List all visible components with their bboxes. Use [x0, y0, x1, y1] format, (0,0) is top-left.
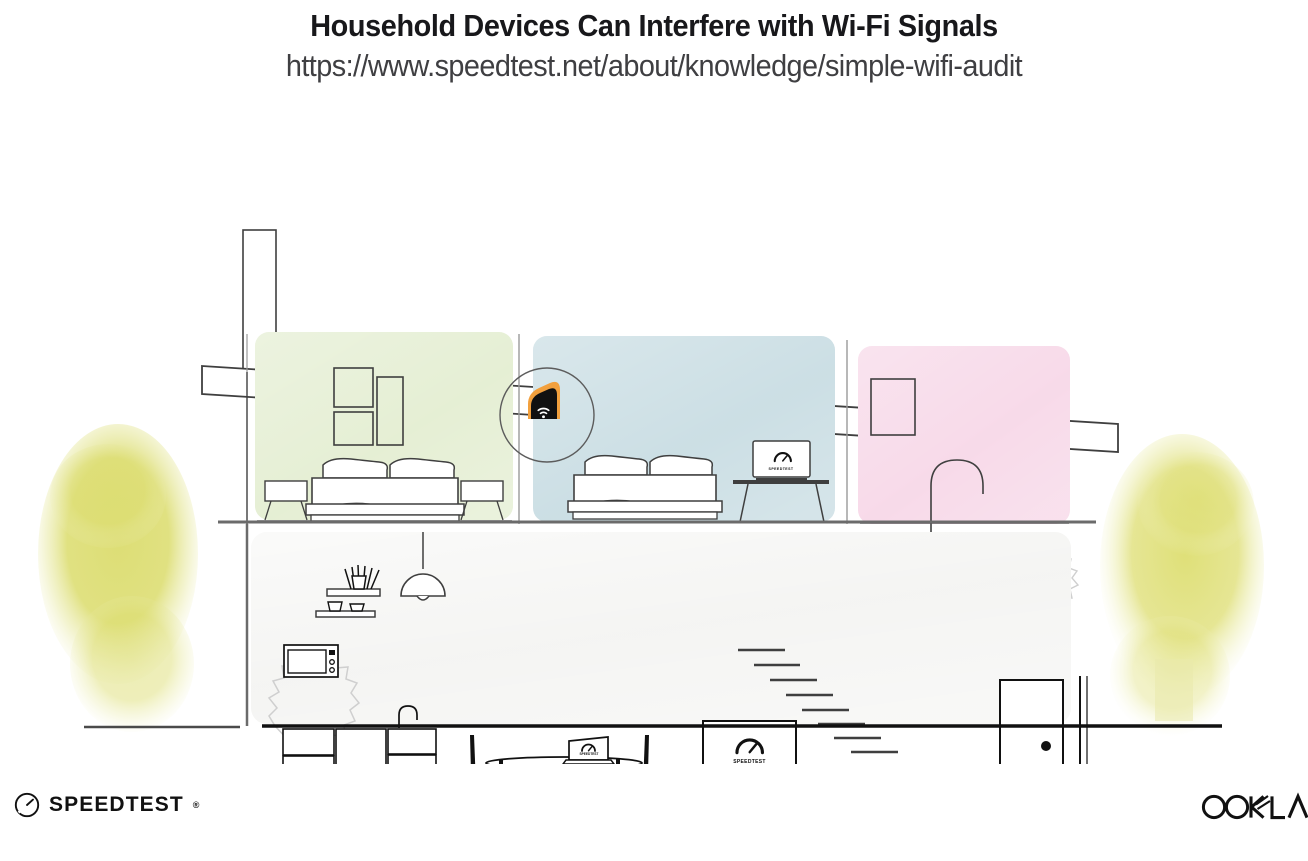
tree-left [38, 424, 198, 732]
ookla-logo[interactable] [1199, 790, 1308, 829]
microwave[interactable] [284, 645, 338, 677]
bed-green [306, 459, 464, 522]
tv-screen-label: SPEEDTEST [733, 759, 765, 764]
header: Household Devices Can Interfere with Wi-… [0, 0, 1308, 83]
house-illustration: SPEEDTEST [0, 104, 1308, 764]
laptop-screen-label: SPEEDTEST [580, 752, 599, 756]
source-url: https://www.speedtest.net/about/knowledg… [46, 49, 1262, 84]
speedtest-logo[interactable]: SPEEDTEST ® [14, 792, 199, 818]
speedtest-wordmark: SPEEDTEST [49, 793, 184, 817]
tree-right [1100, 434, 1264, 736]
infographic-page: Household Devices Can Interfere with Wi-… [0, 0, 1308, 861]
footer: SPEEDTEST ® [0, 792, 1308, 847]
bed-blue [568, 456, 722, 519]
laptop-bedroom: SPEEDTEST [753, 441, 810, 481]
page-title: Household Devices Can Interfere with Wi-… [46, 9, 1262, 44]
room-ground-floor: SPEEDTEST [251, 532, 1087, 764]
ookla-wordmark-icon [1199, 790, 1308, 824]
room-bedroom-green [255, 332, 513, 522]
speedtest-gauge-icon [14, 792, 40, 818]
laptop-screen-label: SPEEDTEST [769, 467, 794, 471]
laptop-dining[interactable]: SPEEDTEST [563, 737, 614, 764]
door-knob [1041, 741, 1051, 751]
speedtest-trademark: ® [193, 800, 200, 810]
front-door[interactable] [1000, 680, 1063, 764]
